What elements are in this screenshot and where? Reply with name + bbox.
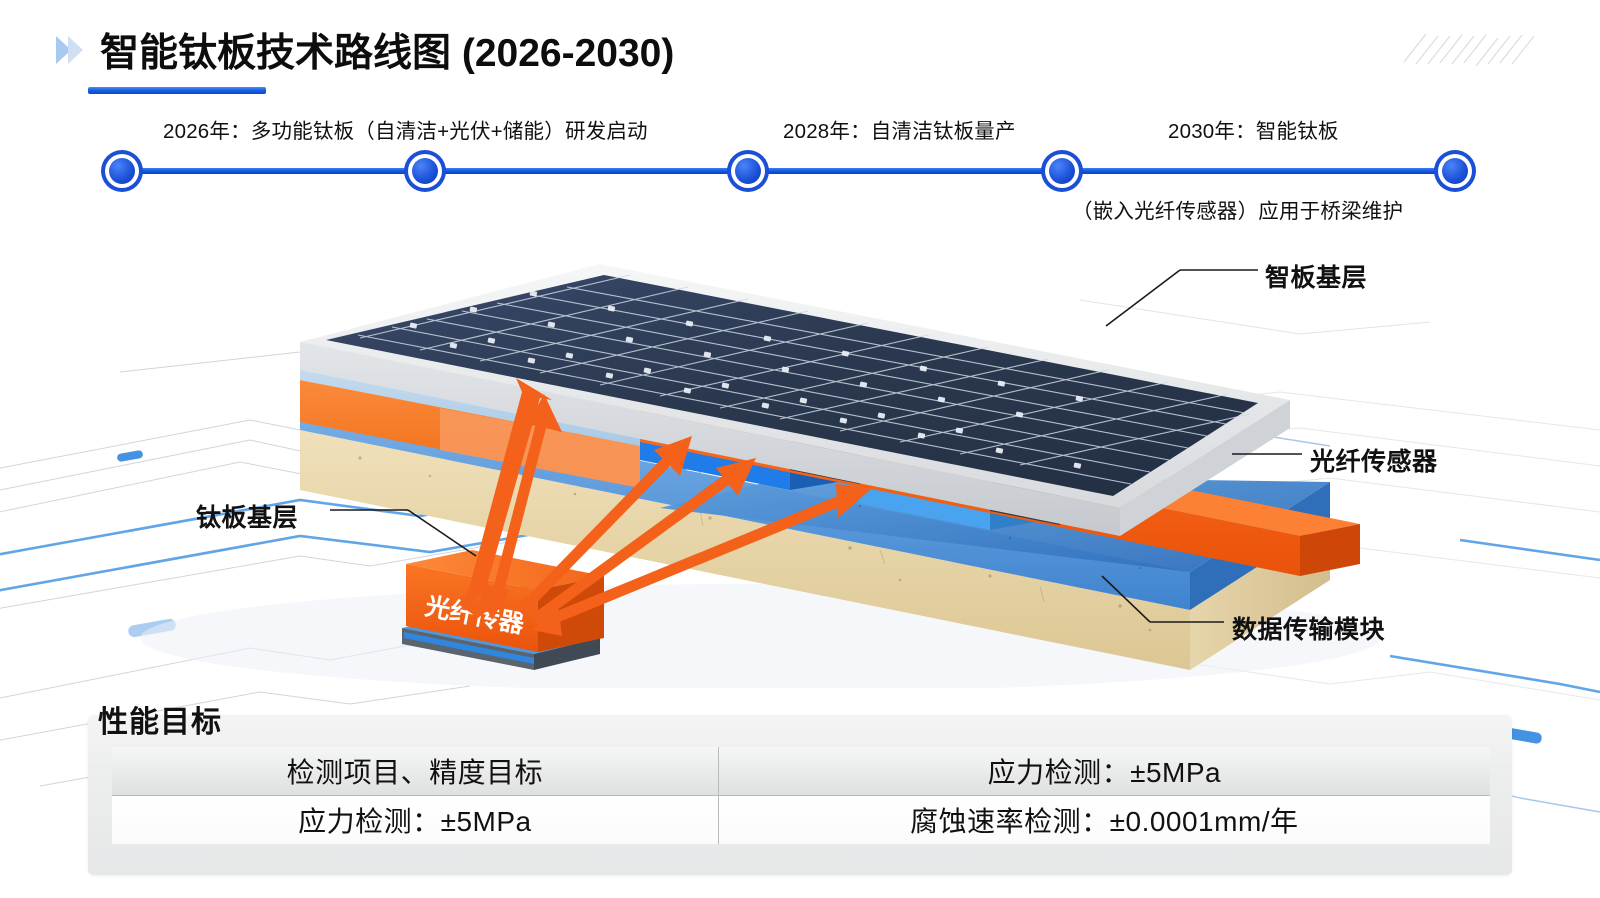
page-header: 智能钛板技术路线图 (2026-2030)	[0, 0, 1600, 110]
table-row-1: 应力检测：±5MPa 腐蚀速率检测：±0.0001mm/年	[111, 796, 1491, 846]
timeline-label-2028: 2028年：自清洁钛板量产	[783, 114, 1016, 144]
timeline-node-4[interactable]	[1041, 150, 1083, 192]
callout-titanium-base-layer: 钛板基层	[196, 498, 298, 534]
triangle-right-icon	[54, 33, 84, 67]
table-cell-r0c1: 应力检测：±5MPa	[718, 746, 1491, 796]
timeline-node-5[interactable]	[1434, 150, 1476, 192]
callout-data-transmission-module: 数据传输模块	[1232, 610, 1385, 646]
table-cell-r1c1: 腐蚀速率检测：±0.0001mm/年	[718, 796, 1491, 846]
performance-table: 检测项目、精度目标 应力检测：±5MPa 应力检测：±5MPa 腐蚀速率检测：±…	[110, 745, 1492, 846]
table-row-header: 检测项目、精度目标 应力检测：±5MPa	[111, 746, 1491, 796]
timeline-label-2030-detail: （嵌入光纤传感器）应用于桥梁维护	[1072, 194, 1403, 224]
performance-heading: 性能目标	[98, 697, 222, 741]
page-title: 智能钛板技术路线图 (2026-2030)	[100, 22, 674, 78]
table-cell-r0c0: 检测项目、精度目标	[111, 746, 718, 796]
timeline-label-2026: 2026年：多功能钛板（自清洁+光伏+储能）研发启动	[163, 114, 648, 144]
timeline-node-1[interactable]	[101, 150, 143, 192]
title-row: 智能钛板技术路线图 (2026-2030)	[54, 22, 674, 78]
callout-smart-panel-base-layer: 智板基层	[1265, 258, 1367, 294]
roadmap-timeline: 2026年：多功能钛板（自清洁+光伏+储能）研发启动 2028年：自清洁钛板量产…	[0, 108, 1600, 220]
timeline-line	[122, 168, 1455, 174]
table-cell-r1c0: 应力检测：±5MPa	[111, 796, 718, 846]
timeline-label-2030: 2030年：智能钛板	[1168, 114, 1339, 144]
timeline-node-3[interactable]	[727, 150, 769, 192]
callout-fiber-optic-sensor: 光纤传感器	[1310, 442, 1438, 478]
title-underline	[88, 87, 266, 94]
timeline-node-2[interactable]	[404, 150, 446, 192]
